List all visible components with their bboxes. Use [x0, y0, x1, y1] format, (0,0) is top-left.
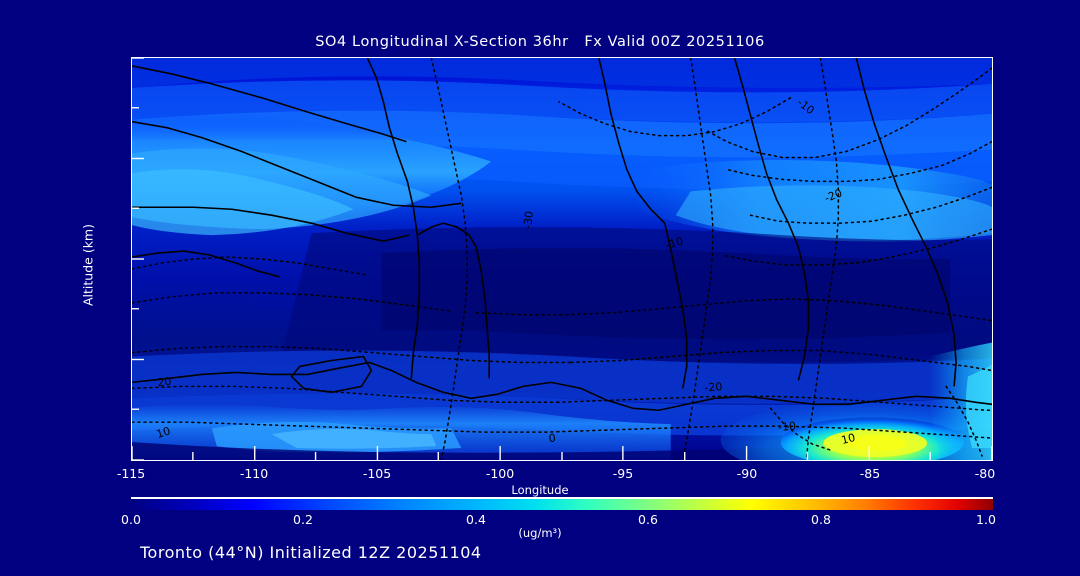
x-tick-label-m110: -110	[240, 466, 268, 481]
contour-label-20: 20	[157, 375, 172, 390]
y-axis-title: Altitude (km)	[81, 224, 96, 306]
x-tick-label-m100: -100	[486, 466, 514, 481]
colorbar-tick-04: 0.4	[466, 512, 486, 527]
colorbar	[131, 497, 993, 510]
y-axis-title-wrapper: Altitude (km)	[78, 205, 98, 325]
x-tick-label-m85: -85	[860, 466, 880, 481]
contour-label-minus10: -10	[777, 419, 796, 434]
colorbar-tick-0: 0.0	[121, 512, 141, 527]
contour-label-minus30: -30	[521, 210, 536, 229]
x-tick-label-m80: -80	[975, 466, 995, 481]
colorbar-tick-02: 0.2	[293, 512, 313, 527]
colorbar-tick-06: 0.6	[638, 512, 658, 527]
chart-title: SO4 Longitudinal X-Section 36hr Fx Valid…	[0, 34, 1080, 50]
x-axis-title: Longitude	[0, 483, 1080, 497]
colorbar-tick-08: 0.8	[811, 512, 831, 527]
figure-root: SO4 Longitudinal X-Section 36hr Fx Valid…	[0, 0, 1080, 576]
colorbar-units-label: (ug/m³)	[0, 526, 1080, 540]
colorbar-tick-10: 1.0	[976, 512, 996, 527]
footer-caption: Toronto (44°N) Initialized 12Z 20251104	[140, 543, 482, 562]
contour-label-minus20: -20	[704, 380, 723, 394]
x-tick-label-m90: -90	[737, 466, 757, 481]
cross-section-plot: 20 10 10 10 -10 -20 -10 -30 0 -20 -10 10	[132, 58, 992, 460]
contour-label-0: 0	[548, 432, 556, 446]
x-tick-label-m95: -95	[613, 466, 633, 481]
x-tick-label-m115: -115	[117, 466, 145, 481]
plot-area: 20 10 10 10 -10 -20 -10 -30 0 -20 -10 10	[131, 57, 993, 461]
x-tick-label-m105: -105	[363, 466, 391, 481]
